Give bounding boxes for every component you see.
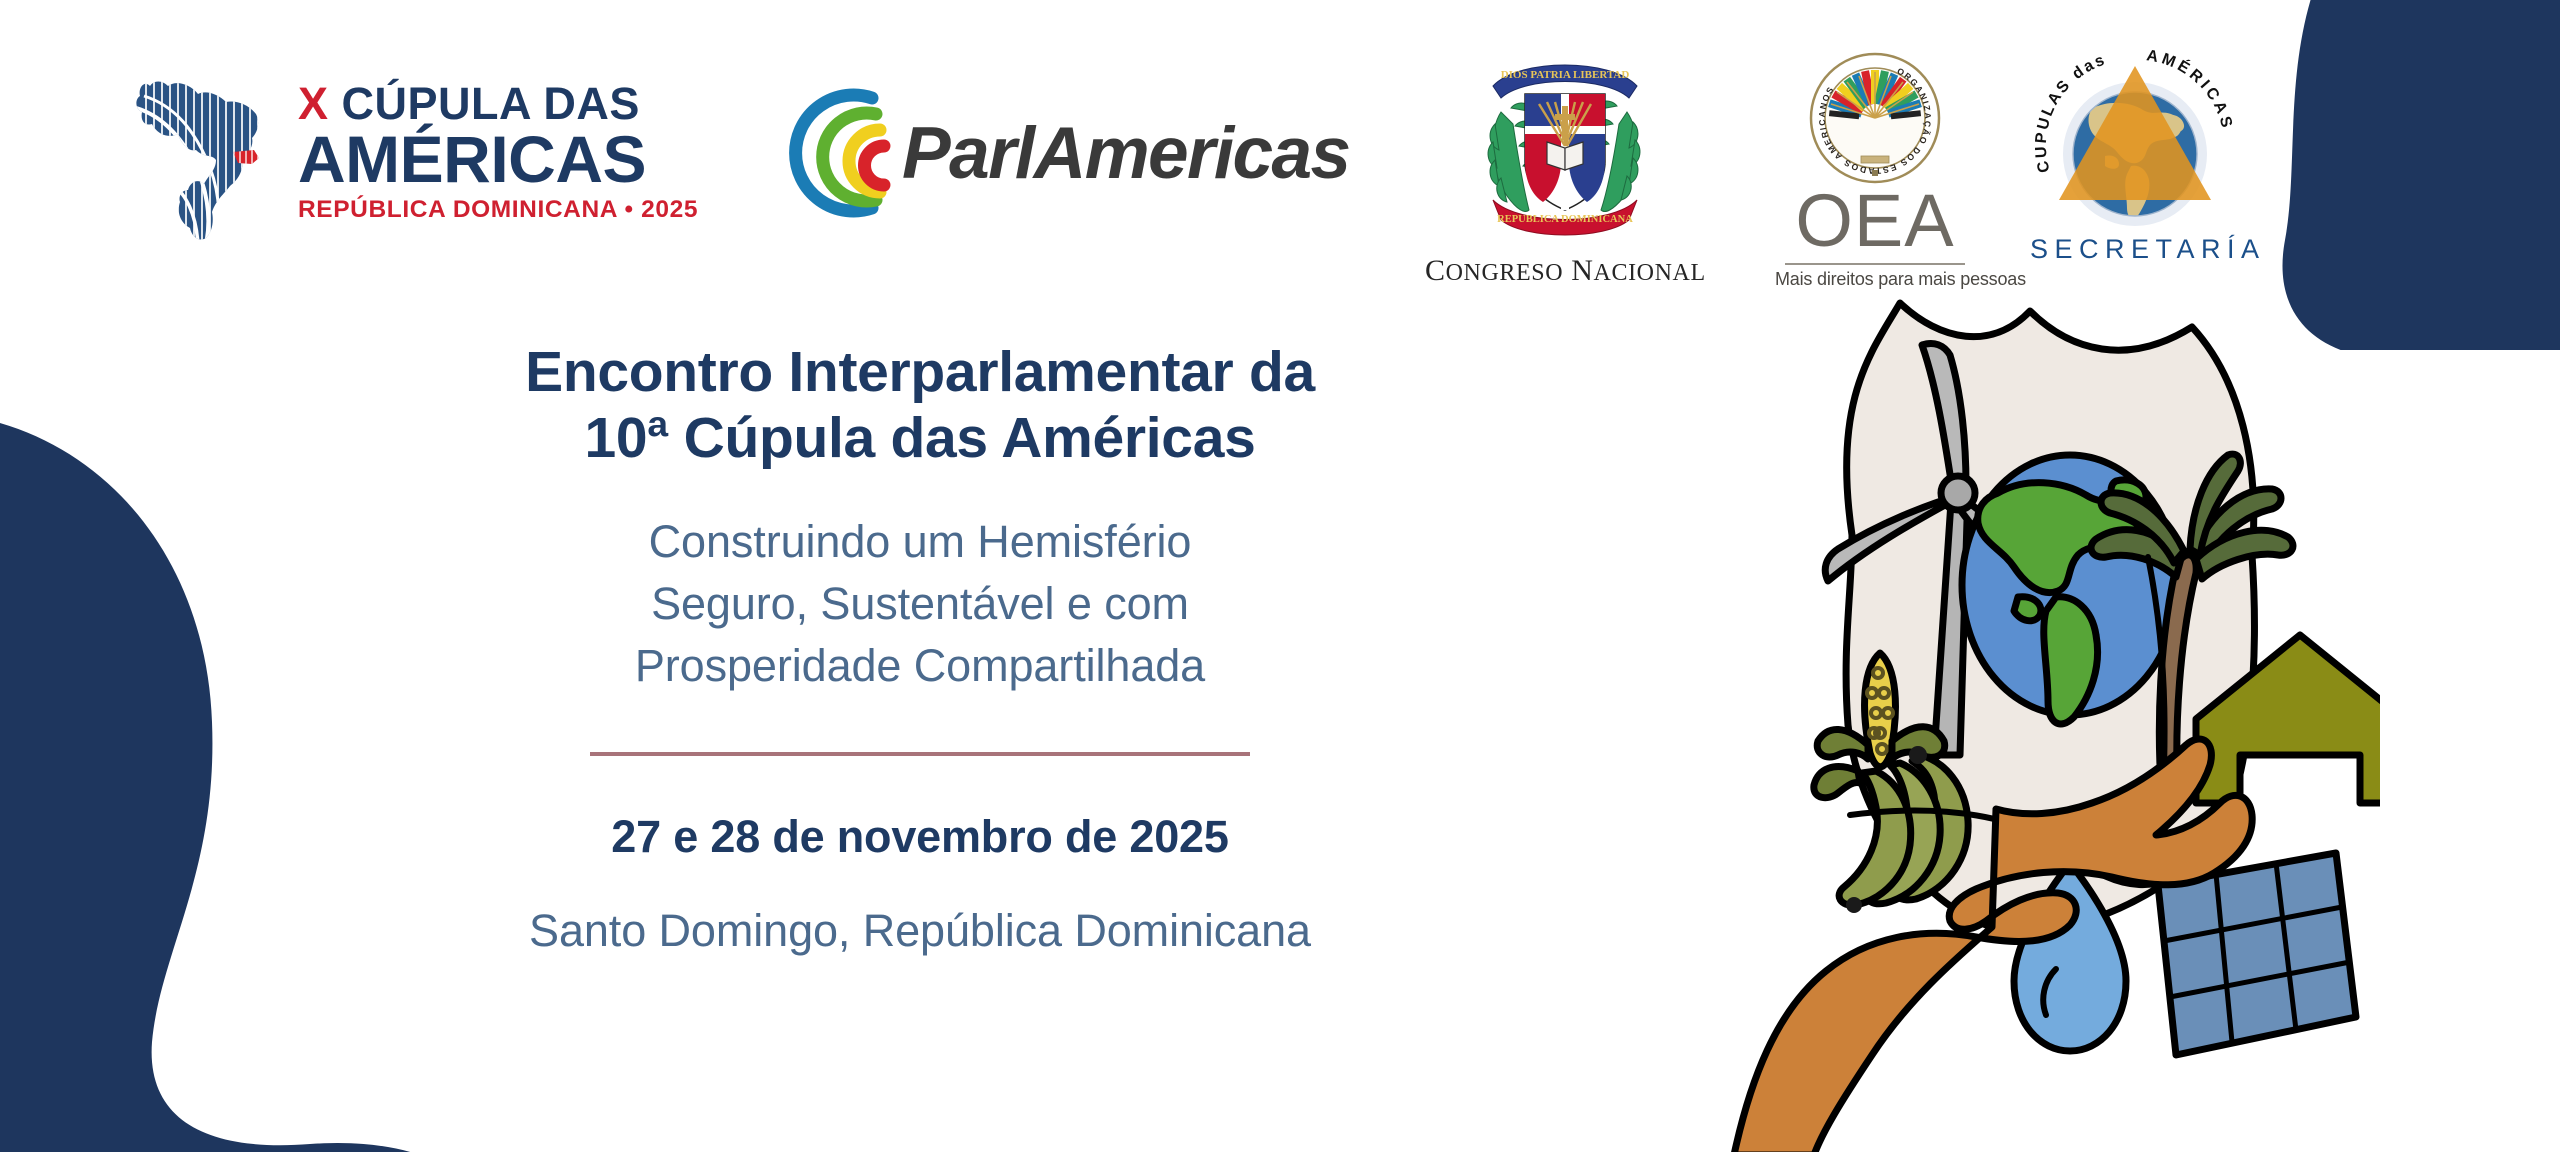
cupulas-triangle-globe-icon: CÚPULAS das AMÉRICAS xyxy=(2035,38,2235,238)
page-title: Encontro Interparlamentar da 10ª Cúpula … xyxy=(330,340,1510,471)
section-divider xyxy=(590,752,1250,756)
event-date: 27 e 28 de novembro de 2025 xyxy=(330,811,1510,863)
logo-parlamericas: ParlAmericas xyxy=(760,78,1340,228)
oea-emblem-icon: ORGANIZAÇÃO DOS ESTADOS AMERICANOS xyxy=(1809,52,1941,184)
parlamericas-arcs-icon xyxy=(760,78,910,228)
logo-strip: X CÚPULA DAS AMÉRICAS REPÚBLICA DOMINICA… xyxy=(0,30,2280,280)
logo-cupula-line1: X CÚPULA DAS xyxy=(298,81,698,127)
event-subtitle-line1: Construindo um Hemisfério xyxy=(330,511,1510,573)
event-subtitle-line3: Prosperidade Compartilhada xyxy=(330,635,1510,697)
dominican-coat-of-arms-icon: DIOS PATRIA LIBERTAD REPUBLICA DOMINICAN… xyxy=(1459,50,1671,250)
logo-x-cupula-das-americas: X CÚPULA DAS AMÉRICAS REPÚBLICA DOMINICA… xyxy=(120,65,680,245)
oea-acronym: OEA xyxy=(1775,186,1975,256)
event-title-line1: Encontro Interparlamentar da xyxy=(330,340,1510,406)
crest-top-motto: DIOS PATRIA LIBERTAD xyxy=(1501,69,1630,81)
event-location: Santo Domingo, República Dominicana xyxy=(330,905,1510,957)
logo-cupulas-secretaria: CÚPULAS das AMÉRICAS SECRETARÍA xyxy=(2030,38,2240,288)
logo-cupula-line3: REPÚBLICA DOMINICANA • 2025 xyxy=(298,192,698,229)
parlamericas-wordmark: ParlAmericas xyxy=(902,112,1350,195)
event-title-line2: 10ª Cúpula das Américas xyxy=(330,406,1510,472)
logo-cupula-line2: AMÉRICAS xyxy=(298,127,698,192)
event-banner: X CÚPULA DAS AMÉRICAS REPÚBLICA DOMINICA… xyxy=(0,0,2560,1152)
hand-holding-sustainability-shield xyxy=(1600,255,2380,1152)
event-subtitle: Construindo um Hemisfério Seguro, Susten… xyxy=(330,511,1510,697)
event-subtitle-line2: Seguro, Sustentável e com xyxy=(330,573,1510,635)
event-text-block: Encontro Interparlamentar da 10ª Cúpula … xyxy=(330,340,1510,957)
crest-bottom-scroll: REPUBLICA DOMINICANA xyxy=(1497,214,1633,225)
americas-map-icon xyxy=(120,66,290,244)
